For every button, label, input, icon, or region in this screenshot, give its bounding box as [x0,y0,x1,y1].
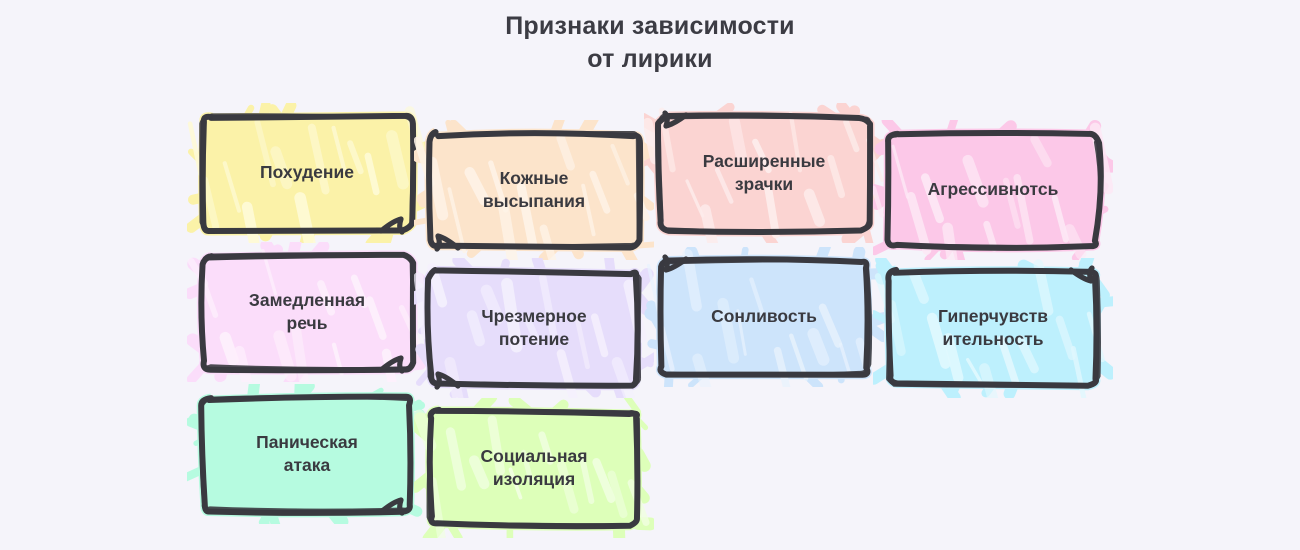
card-agressivnotcs[interactable]: Агрессивнотсь [889,134,1097,246]
card-sketch [177,372,437,536]
card-chrezmernoe-potenie[interactable]: Чрезмерное потение [430,272,638,384]
card-sketch [634,235,894,399]
card-sonlivost[interactable]: Сонливость [660,261,868,373]
card-pohudenie[interactable]: Похудение [203,117,411,229]
card-sketch [404,386,664,550]
card-giperchuvstvitelnost[interactable]: Гиперчувств ительность [889,272,1097,384]
card-zamedlennaya-rech[interactable]: Замедленная речь [203,256,411,368]
card-kozhnye-vysypaniya[interactable]: Кожные высыпания [430,134,638,246]
card-panicheskaya-ataka[interactable]: Паническая атака [203,398,411,510]
card-rasshirennye-zrachki[interactable]: Расширенные зрачки [660,117,868,229]
card-socialnaya-izolyaciya[interactable]: Социальная изоляция [430,412,638,524]
card-sketch [634,91,894,255]
card-sketch [863,246,1123,410]
card-sketch [177,230,437,394]
symptom-card-board: ПохудениеКожные высыпанияРасширенные зра… [0,0,1300,546]
